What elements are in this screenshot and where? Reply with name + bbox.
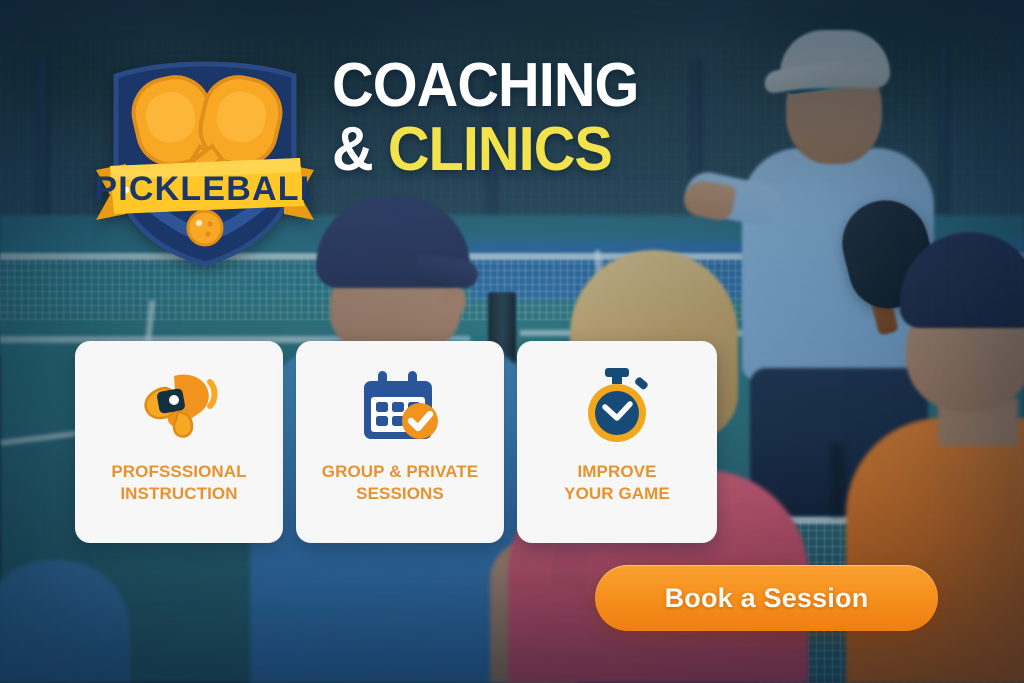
logo-banner-text: PICKLEBALL <box>96 170 314 208</box>
feature-card-list: PROFSSSIONAL INSTRUCTION <box>75 341 717 543</box>
headline: COACHING & CLINICS <box>332 56 662 179</box>
feature-label-line-1: GROUP & PRIVATE <box>322 462 478 481</box>
whistle-icon <box>136 363 222 447</box>
stopwatch-icon <box>577 363 657 447</box>
feature-label-line-2: YOUR GAME <box>564 484 670 503</box>
feature-card-label: GROUP & PRIVATE SESSIONS <box>314 461 486 505</box>
feature-label-line-1: IMPROVE <box>577 462 656 481</box>
promo-banner: PICKLEBALL COACHING & CLINICS PROFSSSION… <box>0 0 1024 683</box>
book-a-session-button[interactable]: Book a Session <box>595 565 938 631</box>
feature-card-label: PROFSSSIONAL INSTRUCTION <box>103 461 254 505</box>
pickleball-shield-logo: PICKLEBALL <box>96 52 314 268</box>
feature-card-improve-your-game[interactable]: IMPROVE YOUR GAME <box>517 341 717 543</box>
feature-label-line-1: PROFSSSIONAL <box>111 462 246 481</box>
feature-card-professional-instruction[interactable]: PROFSSSIONAL INSTRUCTION <box>75 341 283 543</box>
headline-ampersand: & <box>332 115 373 184</box>
calendar-check-icon <box>358 363 442 447</box>
headline-accent: CLINICS <box>388 115 612 184</box>
feature-card-label: IMPROVE YOUR GAME <box>556 461 678 505</box>
headline-line-2: & CLINICS <box>332 120 639 180</box>
feature-label-line-2: SESSIONS <box>356 484 444 503</box>
feature-label-line-2: INSTRUCTION <box>120 484 237 503</box>
headline-line-1: COACHING <box>332 56 639 116</box>
feature-card-group-private-sessions[interactable]: GROUP & PRIVATE SESSIONS <box>296 341 504 543</box>
